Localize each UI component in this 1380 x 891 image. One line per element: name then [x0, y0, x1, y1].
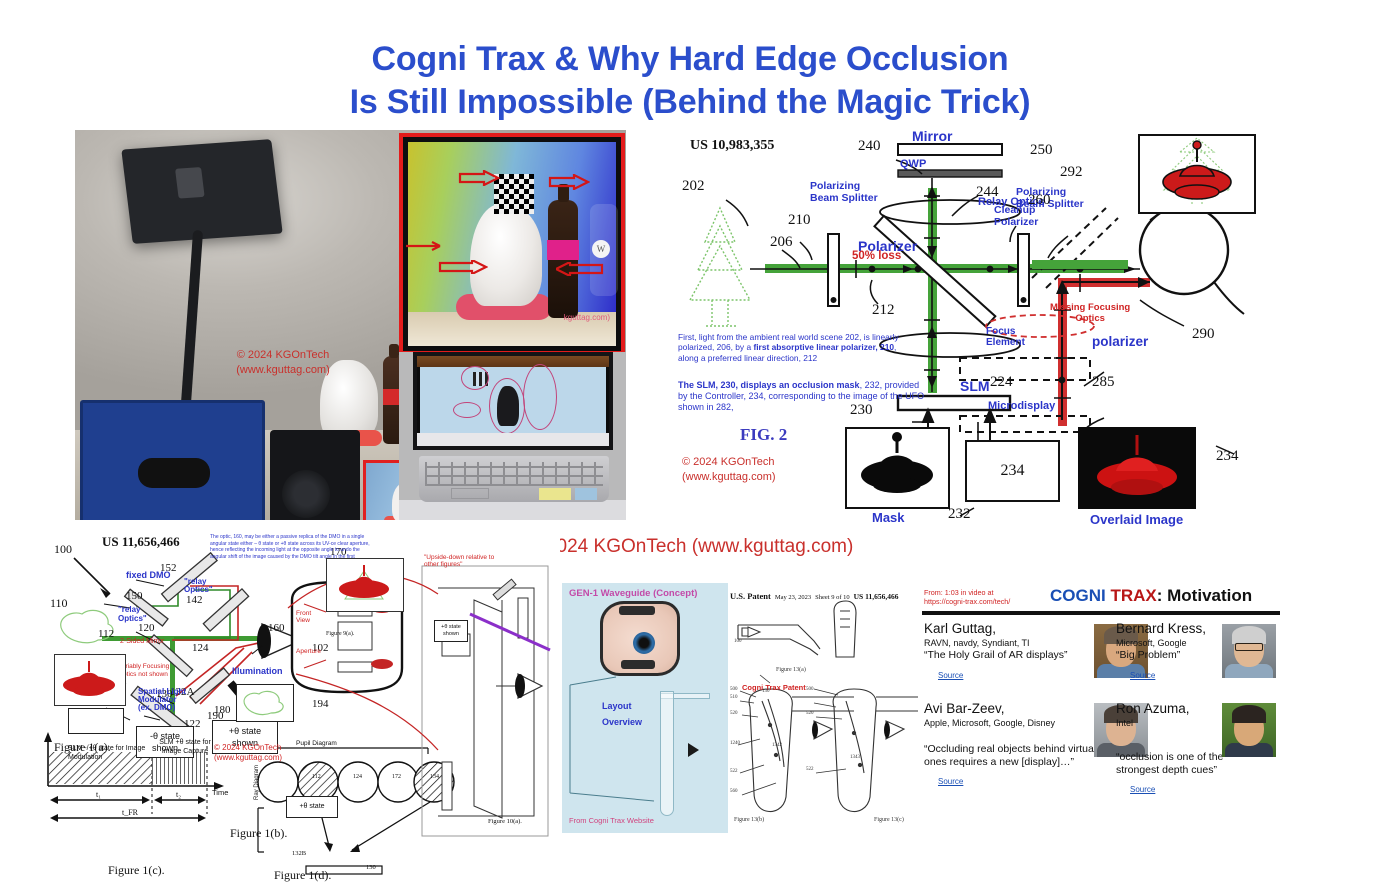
p1-part-b: first absorptive linear polarizer, 210	[753, 342, 894, 352]
laptop-sticker	[575, 488, 597, 500]
ref-232: 232	[948, 506, 971, 523]
fig2-paragraph-2: The SLM, 230, displays an occlusion mask…	[678, 380, 928, 413]
ink-annotation-ellipse	[489, 378, 525, 434]
ps-ref-130: 130	[762, 689, 770, 694]
label-mirror: Mirror	[912, 128, 952, 144]
laptop-trackpad	[451, 488, 489, 499]
laptop-keyboard	[419, 456, 609, 502]
label-50-percent-loss: 50% loss	[852, 250, 901, 262]
bl-copyright-line-1: © 2024 KGOnTech	[214, 743, 281, 752]
ref-240: 240	[858, 138, 881, 155]
ref-224: 224	[990, 374, 1013, 391]
label-missing-focusing-optics: Missing FocusingOptics	[1050, 302, 1130, 324]
person-name: Karl Guttag,	[924, 621, 1102, 637]
ar-shoe	[470, 204, 542, 306]
overlaid-image-282	[1078, 427, 1196, 509]
bl-ufo-image-172	[326, 558, 404, 612]
photo-copyright-line-2: (www.kguttag.com)	[193, 363, 373, 378]
bl-copyright: © 2024 KGOnTech (www.kguttag.com)	[214, 743, 282, 763]
fig2-copyright-line-2: (www.kguttag.com)	[682, 470, 776, 485]
gen1-top-coupler	[619, 606, 655, 615]
bl-label-relay-optics-1: "relay Optics"	[184, 578, 218, 594]
bl-ref-112b: 112	[312, 774, 321, 780]
patent-sheet-drawings	[728, 597, 918, 847]
bl-timing-label-left: SLM -/+θ state for Image Modulation	[68, 744, 168, 762]
ps-ref-510: 510	[730, 695, 738, 700]
gen1-bottom-coupler	[621, 660, 655, 669]
bl-ref-132B: 132B	[292, 850, 306, 857]
camera-lens-icon	[282, 470, 330, 518]
gen1-waveguide-bar	[660, 691, 674, 816]
gen1-eyepiece	[600, 601, 680, 676]
bl-fig10a: Figure 10(a).	[488, 818, 522, 825]
patent-sheet-panel: U.S. Patent May 23, 2023 Sheet 9 of 10 U…	[728, 583, 918, 833]
gen1-waveguide-panel: GEN-1 Waveguide (Concept) Layout Overvie…	[562, 583, 728, 833]
bl-label-front-view: Front View	[296, 610, 318, 624]
ref-292: 292	[1060, 164, 1083, 181]
bl-ref-180b: 172	[392, 774, 401, 780]
motivation-title-trax: TRAX	[1110, 586, 1156, 605]
laptop-taskbar	[417, 433, 609, 446]
gen1-title: GEN-1 Waveguide (Concept)	[569, 588, 697, 599]
label-mask: Mask	[872, 510, 905, 525]
ps-ref-1250: 1240	[730, 741, 740, 746]
bl-label-relay-optics-2: "relay Optics"	[118, 605, 158, 623]
bl-t1: t₁	[96, 790, 101, 799]
blue-optics-housing	[80, 400, 265, 520]
controller-box-234: 234	[965, 440, 1060, 502]
fig2-caption: FIG. 2	[740, 425, 787, 445]
bl-ref-100: 100	[54, 542, 72, 557]
avatar	[1222, 703, 1276, 757]
bl-label-spatial-light-modulator: Spatial Light Modulator (ex. DMO)	[138, 688, 186, 712]
ps-ref-100: 100	[734, 639, 742, 644]
ps-ref-500b: 500	[806, 687, 814, 692]
bl-ref-124b: 124	[353, 774, 362, 780]
ar-bottle-label	[547, 240, 579, 260]
ps-ref-522b: 522	[806, 767, 814, 772]
ink-annotation-ellipse	[523, 364, 557, 430]
motivation-title-cogni: COGNI	[1050, 586, 1106, 605]
motivation-panel: From: 1:03 in video at https://cogni-tra…	[922, 583, 1280, 833]
ps-ref-520: 520	[730, 711, 738, 716]
avatar-hair	[1232, 626, 1266, 644]
bl-figure-1d: Figure 1(d).	[274, 868, 331, 883]
motivation-title-suffix: : Motivation	[1157, 586, 1252, 605]
motivation-title: COGNI TRAX: Motivation	[1050, 586, 1252, 606]
gen1-layout-line-2: Overview	[602, 717, 642, 727]
bl-fig9a: Figure 9(a).	[326, 631, 354, 637]
bl-label-two-sided-mirror: 2-Sided Mirror	[120, 638, 164, 645]
ps-ref-1240: 560	[730, 789, 738, 794]
gen1-source-credit: From Cogni Trax Website	[569, 816, 654, 825]
controller-number: 234	[967, 442, 1058, 500]
person-card-avi-bar-zeev: Avi Bar-Zeev, Apple, Microsoft, Google, …	[924, 701, 1106, 789]
gen1-leader-lines	[568, 675, 658, 805]
motivation-divider	[922, 611, 1280, 615]
person-source-link[interactable]: Source	[1130, 671, 1155, 680]
ref-282: 234	[1216, 448, 1239, 465]
brain-icon	[237, 685, 291, 719]
eye-iris-icon	[633, 632, 655, 654]
bl-state-box-plus-3: +θ state	[286, 796, 338, 818]
motivation-from-line-2: https://cogni-trax.com/tech/	[924, 597, 1010, 606]
bl-ref-120: 120	[138, 622, 155, 634]
person-source-link[interactable]: Source	[938, 671, 963, 680]
laptop-titlebar	[417, 356, 609, 367]
title-line-1: Cogni Trax & Why Hard Edge Occlusion	[371, 40, 1008, 78]
bl-ref-152: 150	[126, 590, 143, 602]
eye-direction-icon	[688, 743, 699, 757]
bl-ref-134b: 134	[430, 774, 439, 780]
ps-ref-520b: 520	[806, 711, 814, 716]
fig2-copyright-line-1: © 2024 KGOnTech	[682, 455, 776, 470]
annotation-arrow-icon	[548, 174, 590, 190]
gen1-layout-label: Layout Overview	[602, 698, 642, 730]
bl-note-text: The optic, 160, may be either a passive …	[210, 534, 370, 560]
ar-bottle	[548, 200, 578, 318]
bl-ref-130b: 130	[366, 864, 376, 871]
person-card-karl-guttag: Karl Guttag, RAVN, navdy, Syndiant, TI “…	[924, 621, 1102, 683]
bl-timing-label-right: SLM +θ state for Image Capture	[158, 738, 212, 756]
bl-ref-112: 112	[98, 628, 114, 640]
ps-ref-1343: 1343	[850, 755, 860, 760]
bl-ref-124: 124	[192, 642, 209, 654]
bl-ref-194: 194	[312, 698, 329, 710]
bl-figure-1c: Figure 1(c).	[108, 863, 165, 878]
ps-ref-500: 500	[730, 687, 738, 692]
ref-206: 206	[770, 234, 793, 251]
person-quote: “Occluding real objects behind virtual o…	[924, 743, 1106, 769]
monitor-rear	[121, 139, 282, 244]
ref-250: 250	[1030, 142, 1053, 159]
ar-watermark-badge: W	[592, 240, 610, 258]
annotation-arrow-icon	[556, 262, 604, 276]
label-microdisplay: Microdisplay	[988, 400, 1055, 412]
label-qwp: QWP	[900, 158, 926, 170]
fig2-paragraph-1: First, light from the ambient real world…	[678, 332, 918, 363]
laptop-sticky-note	[539, 488, 571, 500]
motivation-from-line-1: From: 1:03 in video at	[924, 588, 1010, 597]
bl-ref-150: 142	[186, 594, 203, 606]
ps-fig-13a: Figure 13(a)	[776, 667, 806, 673]
gen1-lens	[600, 601, 680, 676]
avatar-hair	[1232, 705, 1266, 723]
laptop-desk	[399, 500, 626, 520]
bl-label-aperture: Aperture	[296, 648, 320, 655]
bl-brain-box-122	[236, 684, 294, 722]
label-focus-element: FocusElement	[986, 326, 1025, 348]
fig2-panel: US 10,983,355	[660, 130, 1280, 530]
bl-ufo-image-142	[54, 654, 126, 706]
avatar	[1222, 624, 1276, 678]
camera-body	[270, 430, 360, 520]
person-companies: RAVN, navdy, Syndiant, TI	[924, 637, 1102, 649]
ar-capture-inset: W kguttag.com)	[399, 133, 625, 355]
ar-scene-background: W kguttag.com)	[408, 142, 616, 346]
ps-ref-1342: 1342	[772, 743, 782, 748]
ref-290: 290	[1192, 326, 1215, 343]
bl-ref-170: 160	[268, 622, 285, 634]
glasses-icon	[1235, 643, 1263, 651]
bl-ref-110: 110	[50, 596, 68, 611]
patent-bottom-left-panel: US 11,656,466	[40, 528, 560, 888]
person-name: Avi Bar-Zeev,	[924, 701, 1106, 717]
ref-244: 244	[976, 184, 999, 201]
ref-285: 285	[1092, 374, 1115, 391]
ar-qr-code	[494, 174, 534, 214]
bl-pupil-diagram-label: Pupil Diagram	[296, 740, 337, 747]
person-companies: Apple, Microsoft, Google, Disney	[924, 717, 1106, 729]
optics-knob	[138, 458, 210, 488]
annotation-arrow-icon	[458, 170, 500, 186]
bl-copyright-line-2: (www.kguttag.com)	[214, 753, 282, 762]
bl-label-illumination: Illumination	[232, 666, 283, 676]
bl-box-140	[68, 708, 124, 734]
ps-fig-13b: Figure 13(b)	[734, 817, 764, 823]
bl-figure-1b: Figure 1(b).	[230, 826, 287, 841]
motivation-source-note: From: 1:03 in video at https://cogni-tra…	[924, 588, 1010, 606]
page-title: Cogni Trax & Why Hard Edge Occlusion Is …	[0, 38, 1380, 124]
ref-210: 210	[788, 212, 811, 229]
label-slm: SLM	[960, 378, 990, 394]
occlusion-mask-image-232	[845, 427, 950, 509]
title-line-2: Is Still Impossible (Behind the Magic Tr…	[0, 81, 1380, 124]
bl-state-box-plus-4: +θ stateshown	[434, 620, 468, 642]
ar-kguttag-mark: kguttag.com)	[564, 313, 610, 322]
ink-annotation-ellipse	[453, 402, 481, 418]
bl-tfr: t_FR	[122, 808, 138, 817]
label-overlaid-image: Overlaid Image	[1090, 512, 1183, 527]
label-polarizing-beam-splitter-1: PolarizingBeam Splitter	[810, 180, 910, 204]
person-source-link[interactable]: Source	[1130, 785, 1155, 794]
ufo-reference-image-292	[1138, 134, 1256, 214]
laptop-photo-inset	[399, 352, 626, 520]
bl-t2: t₂	[176, 790, 181, 799]
bl-axis-time: Time	[212, 788, 228, 797]
bl-label-upside-down: "Upside-down relative to other figures"	[424, 554, 504, 568]
label-polarizer-285: polarizer	[1092, 334, 1148, 349]
ps-red-note: Cogni Trax Patent	[742, 683, 806, 692]
gen1-layout-line-1: Layout	[602, 701, 632, 711]
ref-212: 212	[872, 302, 895, 319]
bl-label-fixed-dmo: fixed DMO	[126, 570, 171, 580]
bl-ray-diagram-label: Ray Diagram	[254, 765, 260, 800]
ref-260: 260	[1028, 192, 1051, 209]
annotation-arrow-icon	[406, 240, 446, 252]
ps-fig-13c: Figure 13(c)	[874, 817, 904, 823]
laptop-screen	[413, 352, 613, 450]
p2-part-a: The SLM, 230, displays an occlusion mask	[678, 380, 860, 390]
laptop-keys	[425, 462, 603, 486]
ps-ref-522: 522	[730, 769, 738, 774]
fig2-copyright: © 2024 KGOnTech (www.kguttag.com)	[682, 455, 776, 485]
photo-copyright: © 2024 KGOnTech (www.kguttag.com)	[193, 348, 373, 378]
annotation-arrow-icon	[438, 260, 488, 274]
bl-label-variably-focusing: Variably Focusing Optics not shown	[118, 663, 172, 678]
bottle-neck	[389, 344, 399, 358]
person-quote: “The Holy Grail of AR displays”	[924, 649, 1102, 662]
ink-annotation-ellipse	[461, 366, 489, 390]
photo-copyright-line-1: © 2024 KGOnTech	[193, 348, 373, 363]
person-source-link[interactable]: Source	[938, 777, 963, 786]
slide-canvas: Cogni Trax & Why Hard Edge Occlusion Is …	[0, 0, 1380, 891]
ref-202: 202	[682, 178, 705, 195]
